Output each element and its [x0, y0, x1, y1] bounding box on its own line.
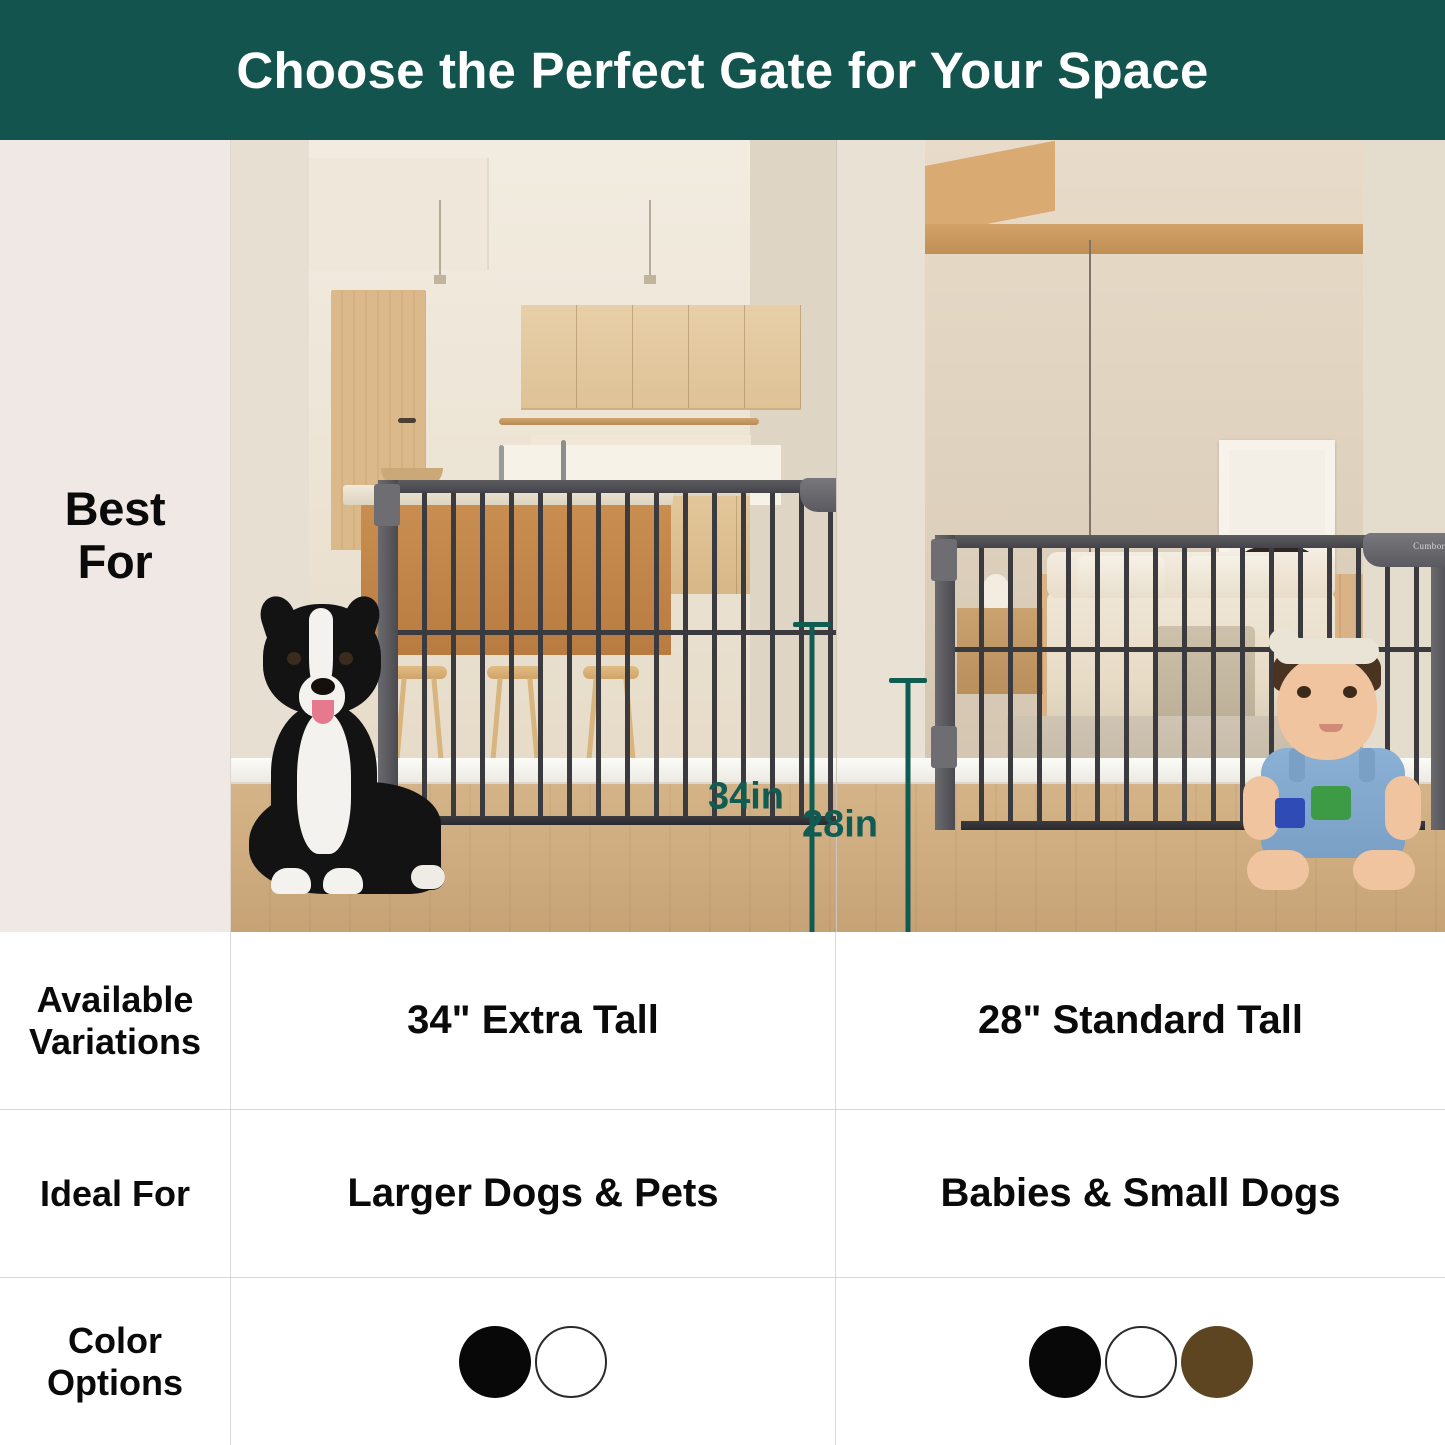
dog-tail — [361, 864, 445, 890]
spec-comparison-table: Available Variations 34" Extra Tall 28" … — [0, 932, 1445, 1445]
color-swatches-right — [1029, 1326, 1253, 1398]
dog-white-ruff — [297, 712, 351, 854]
bedroom-wood-beam — [925, 224, 1363, 254]
gate-right-post — [1431, 535, 1445, 830]
header-banner: Choose the Perfect Gate for Your Space — [0, 0, 1445, 140]
row-label-cell: Ideal For — [0, 1110, 231, 1277]
gate-wall-mount-top — [931, 539, 957, 581]
best-for-label: Best For — [65, 483, 166, 588]
baby-leg-left — [1247, 850, 1309, 890]
comparison-infographic: Choose the Perfect Gate for Your Space B… — [0, 0, 1445, 1445]
dog-eye-right — [339, 652, 353, 665]
table-row-available-variations: Available Variations 34" Extra Tall 28" … — [0, 932, 1445, 1110]
label-line1: Color — [68, 1320, 162, 1361]
table-row-color-options: Color Options — [0, 1278, 1445, 1445]
toy-block-blue — [1275, 798, 1305, 828]
color-swatches-left — [459, 1326, 607, 1398]
color-swatch-white[interactable] — [535, 1326, 607, 1398]
gate-handle-cap: Cumbor — [1363, 533, 1445, 567]
toy-block-green — [1311, 786, 1351, 820]
kitchen-soffit — [309, 158, 489, 270]
color-swatch-brown[interactable] — [1181, 1326, 1253, 1398]
dog-nose — [311, 678, 335, 695]
baby-arm-left — [1243, 776, 1279, 840]
gate-wall-mount-bottom — [931, 726, 957, 768]
label-line2: Variations — [29, 1021, 201, 1062]
label-line2: Options — [47, 1362, 183, 1403]
row-label-available-variations: Available Variations — [29, 979, 201, 1062]
color-swatch-black[interactable] — [1029, 1326, 1101, 1398]
border-collie-dog — [241, 604, 441, 894]
value-cell-right: 28" Standard Tall — [836, 932, 1445, 1109]
gate-handle-cap: Cumbor — [800, 478, 836, 512]
value-left-ideal-for: Larger Dogs & Pets — [347, 1171, 718, 1216]
kitchen-upper-cabinets — [521, 305, 801, 410]
baby-eye-left — [1297, 686, 1311, 698]
gate-wall-mount-top — [374, 484, 400, 526]
value-cell-right: Babies & Small Dogs — [836, 1110, 1445, 1277]
value-left-variation: 34" Extra Tall — [407, 998, 659, 1043]
baby-arm-right — [1385, 776, 1421, 840]
baby-eye-right — [1343, 686, 1357, 698]
best-for-line1: Best — [65, 482, 166, 535]
table-row-ideal-for: Ideal For Larger Dogs & Pets Babies & Sm… — [0, 1110, 1445, 1278]
value-cell-left: Larger Dogs & Pets — [231, 1110, 836, 1277]
hero-comparison-row: Best For — [0, 140, 1445, 932]
gate-top-rail — [378, 480, 836, 493]
dimension-callout-34in: 34in — [790, 622, 834, 972]
dog-paw-left — [271, 868, 311, 894]
row-label-cell: Available Variations — [0, 932, 231, 1109]
dimension-callout-28in: 28in — [886, 678, 930, 972]
dimension-label-34in: 34in — [708, 776, 784, 819]
row-label-ideal-for: Ideal For — [40, 1173, 190, 1214]
color-swatch-white[interactable] — [1105, 1326, 1177, 1398]
row-label-color-options: Color Options — [47, 1320, 183, 1403]
baby-head — [1277, 656, 1377, 760]
pet-gate-34-inch: Cumbor — [378, 480, 836, 825]
gate-mid-rail — [398, 630, 836, 635]
value-right-variation: 28" Standard Tall — [978, 998, 1303, 1043]
row-label-best-for: Best For — [0, 140, 231, 932]
value-cell-right — [836, 1278, 1445, 1445]
gate-brand-logo: Cumbor — [1413, 541, 1445, 551]
label-line1: Available — [37, 979, 194, 1020]
dim-line — [810, 622, 815, 972]
baby-leg-right — [1353, 850, 1415, 890]
page-title: Choose the Perfect Gate for Your Space — [236, 45, 1208, 96]
dog-paw-right — [323, 868, 363, 894]
gate-vertical-bars — [398, 493, 836, 816]
bedroom-pendant-lamp — [1089, 240, 1091, 568]
baby-headband — [1275, 638, 1379, 664]
value-right-ideal-for: Babies & Small Dogs — [940, 1171, 1340, 1216]
dimension-label-28in: 28in — [802, 804, 878, 847]
baby-strap-right — [1359, 748, 1375, 782]
dim-line — [906, 678, 911, 972]
baby-sitting — [1241, 640, 1423, 890]
value-cell-left: 34" Extra Tall — [231, 932, 836, 1109]
color-swatch-black[interactable] — [459, 1326, 531, 1398]
row-label-cell: Color Options — [0, 1278, 231, 1445]
value-cell-left — [231, 1278, 836, 1445]
dog-tongue — [312, 700, 334, 724]
kitchen-linear-light — [499, 418, 759, 425]
best-for-line2: For — [78, 535, 153, 588]
pendant-cord-2 — [649, 200, 651, 278]
dog-eye-left — [287, 652, 301, 665]
pendant-cord-1 — [439, 200, 441, 278]
